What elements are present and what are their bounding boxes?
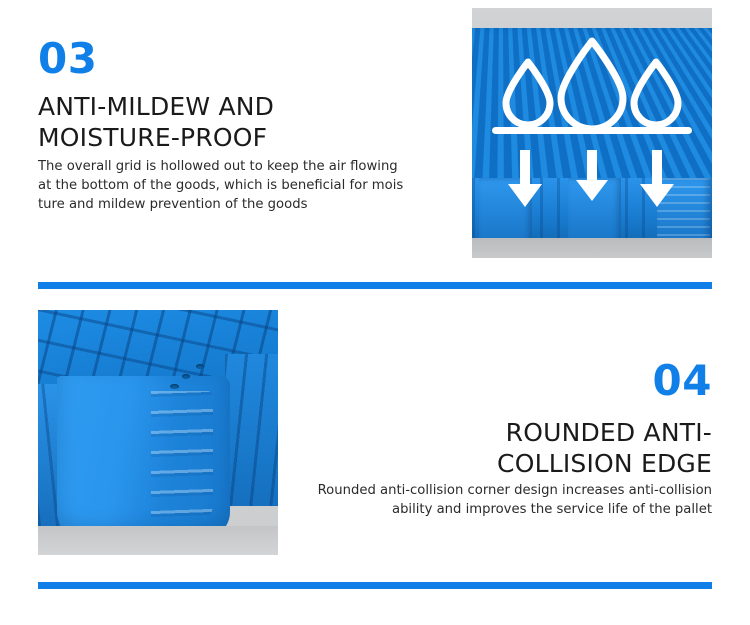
water-drop-icon <box>506 62 550 125</box>
section-divider-middle <box>38 282 712 289</box>
section-03-title: ANTI-MILDEW AND MOISTURE-PROOF <box>38 92 438 153</box>
section-04-number: 04 <box>653 360 712 402</box>
pallet-hole <box>170 384 179 389</box>
moisture-icon-overlay <box>472 8 712 258</box>
down-arrow-icon <box>508 150 542 207</box>
section-04-description: Rounded anti-collision corner design inc… <box>310 482 712 520</box>
feature-page: 03 ANTI-MILDEW AND MOISTURE-PROOF The ov… <box>0 0 750 625</box>
floor-surface <box>38 526 278 555</box>
section-divider-bottom <box>38 582 712 589</box>
pallet-hole <box>182 374 190 379</box>
water-drop-icon <box>561 41 623 129</box>
water-drop-icon <box>634 62 678 125</box>
horizontal-separator-line <box>492 127 692 134</box>
down-arrow-icon <box>640 150 674 207</box>
section-04-title: ROUNDED ANTI- COLLISION EDGE <box>312 418 712 479</box>
pallet-corner-ribs <box>151 391 213 523</box>
section-03-image-moisture-proof-pallet <box>472 8 712 258</box>
section-04-image-rounded-corner-pallet <box>38 310 278 555</box>
pallet-side-grid <box>225 354 278 506</box>
section-03-description: The overall grid is hollowed out to keep… <box>38 158 410 215</box>
section-03-number: 03 <box>38 38 97 80</box>
down-arrow-icon <box>576 150 608 201</box>
